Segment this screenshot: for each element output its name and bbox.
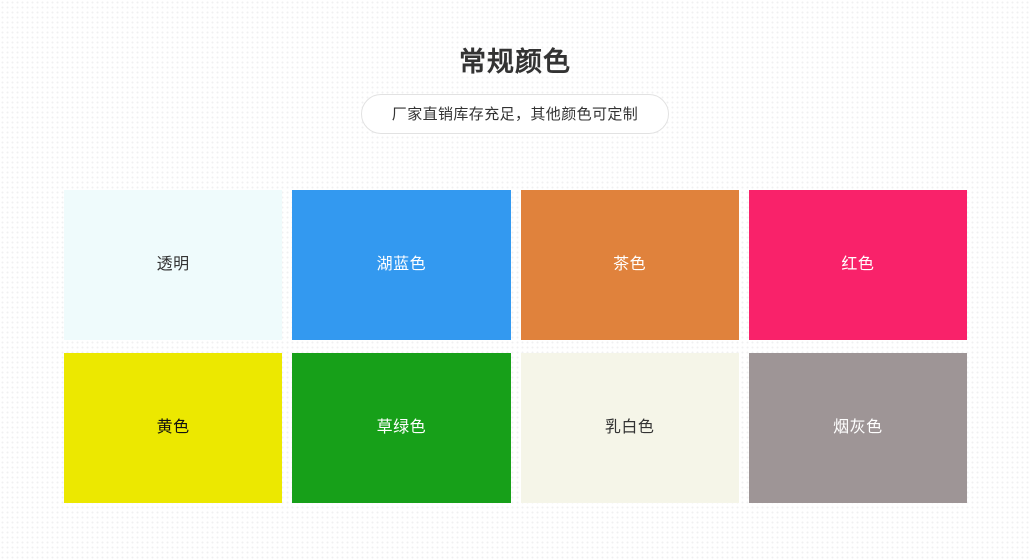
color-swatch[interactable]: 烟灰色 <box>749 353 967 503</box>
page-title: 常规颜色 <box>0 45 1030 79</box>
subtitle-container: 厂家直销库存充足，其他颜色可定制 <box>0 94 1030 134</box>
color-swatch[interactable]: 湖蓝色 <box>292 190 510 340</box>
color-swatch-label: 茶色 <box>613 257 646 273</box>
color-swatch-label: 红色 <box>841 257 874 273</box>
color-swatch-grid: 透明湖蓝色茶色红色黄色草绿色乳白色烟灰色 <box>64 190 967 503</box>
subtitle-pill: 厂家直销库存充足，其他颜色可定制 <box>361 94 669 134</box>
color-swatch[interactable]: 乳白色 <box>521 353 739 503</box>
color-swatch-label: 烟灰色 <box>833 420 883 436</box>
color-swatch[interactable]: 茶色 <box>521 190 739 340</box>
color-swatch-label: 透明 <box>157 257 190 273</box>
color-swatch[interactable]: 透明 <box>64 190 282 340</box>
color-swatch-label: 黄色 <box>157 420 190 436</box>
color-swatch[interactable]: 草绿色 <box>292 353 510 503</box>
color-swatch-label: 湖蓝色 <box>377 257 427 273</box>
color-showcase-page: 常规颜色 厂家直销库存充足，其他颜色可定制 透明湖蓝色茶色红色黄色草绿色乳白色烟… <box>0 0 1030 559</box>
color-swatch[interactable]: 红色 <box>749 190 967 340</box>
page-header: 常规颜色 厂家直销库存充足，其他颜色可定制 <box>0 0 1030 134</box>
color-swatch-label: 草绿色 <box>377 420 427 436</box>
color-swatch[interactable]: 黄色 <box>64 353 282 503</box>
color-swatch-label: 乳白色 <box>605 420 655 436</box>
